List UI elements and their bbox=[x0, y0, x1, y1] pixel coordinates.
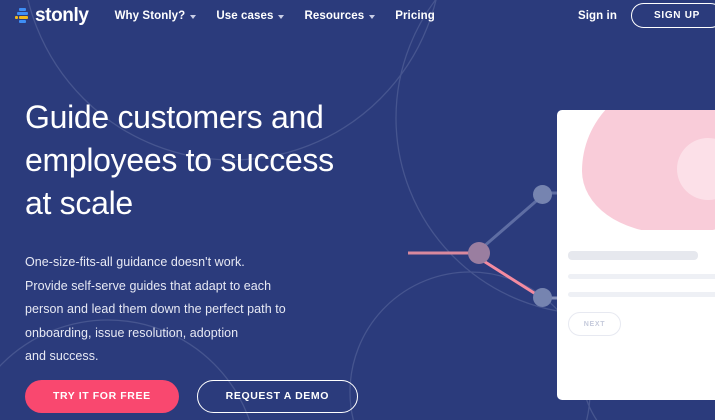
node-upper[interactable] bbox=[533, 185, 552, 204]
node-center[interactable] bbox=[468, 242, 490, 264]
hero-cta-row: TRY IT FOR FREE REQUEST A DEMO bbox=[25, 380, 358, 413]
site-header: stonly Why Stonly? Use cases Resources P… bbox=[0, 0, 715, 31]
page-root: stonly Why Stonly? Use cases Resources P… bbox=[0, 0, 715, 420]
hero-description: One-size-fits-all guidance doesn't work.… bbox=[25, 251, 375, 369]
skeleton-title-line bbox=[568, 251, 698, 260]
skeleton-text-line bbox=[568, 292, 715, 297]
next-button[interactable]: NEXT bbox=[568, 312, 621, 336]
nav-label: Resources bbox=[304, 10, 364, 22]
nav-item-use-cases[interactable]: Use cases bbox=[216, 10, 284, 22]
node-lower[interactable] bbox=[533, 288, 552, 307]
try-it-for-free-button[interactable]: TRY IT FOR FREE bbox=[25, 380, 179, 413]
page-title: Guide customers and employees to success… bbox=[25, 96, 375, 225]
nav-item-resources[interactable]: Resources bbox=[304, 10, 375, 22]
hero-illustration: NEXT bbox=[400, 80, 715, 420]
chevron-down-icon bbox=[190, 15, 196, 19]
connector-upper bbox=[482, 196, 542, 248]
skeleton-text-line bbox=[568, 274, 715, 279]
request-a-demo-button[interactable]: REQUEST A DEMO bbox=[197, 380, 358, 413]
nav-label: Pricing bbox=[395, 10, 435, 22]
brand-logo[interactable]: stonly bbox=[15, 6, 89, 25]
guide-card[interactable]: NEXT bbox=[557, 110, 715, 400]
hero-copy: Guide customers and employees to success… bbox=[25, 96, 375, 369]
sign-up-button[interactable]: SIGN UP bbox=[631, 3, 715, 28]
header-actions: Sign in SIGN UP bbox=[578, 0, 715, 31]
sign-in-link[interactable]: Sign in bbox=[578, 10, 617, 22]
nav-label: Use cases bbox=[216, 10, 273, 22]
nav-item-pricing[interactable]: Pricing bbox=[395, 10, 435, 22]
main-navigation: Why Stonly? Use cases Resources Pricing bbox=[115, 10, 435, 22]
stonly-blocks-icon bbox=[15, 8, 30, 24]
card-image-area bbox=[557, 110, 715, 230]
chevron-down-icon bbox=[278, 15, 284, 19]
brand-name: stonly bbox=[35, 6, 89, 25]
nav-item-why-stonly[interactable]: Why Stonly? bbox=[115, 10, 197, 22]
nav-label: Why Stonly? bbox=[115, 10, 186, 22]
chevron-down-icon bbox=[369, 15, 375, 19]
